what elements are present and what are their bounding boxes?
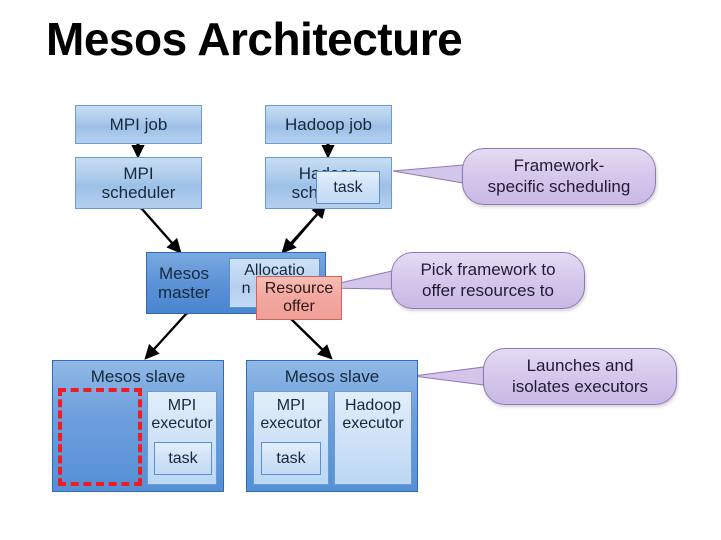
mesos-master-line2: master <box>158 283 210 302</box>
callout-framework-scheduling-line2: specific scheduling <box>488 177 631 198</box>
mesos-master-line1: Mesos <box>159 264 209 283</box>
resource-offer-line1: Resource <box>265 280 333 298</box>
mpi-scheduler-box[interactable]: MPI scheduler <box>75 157 202 209</box>
hadoop-job-box[interactable]: Hadoop job <box>265 105 392 144</box>
mesos-slave-2-title: Mesos slave <box>247 367 417 387</box>
callout-launches-isolates[interactable]: Launches and isolates executors <box>483 348 677 405</box>
mpi-job-box[interactable]: MPI job <box>75 105 202 144</box>
mesos-slave-2-mpi-task[interactable]: task <box>261 442 321 475</box>
mesos-slave-1-title: Mesos slave <box>53 367 223 387</box>
callout-pick-framework[interactable]: Pick framework to offer resources to <box>391 252 585 309</box>
resource-offer-line2: offer <box>283 298 315 316</box>
callout-pick-framework-line1: Pick framework to <box>420 260 555 281</box>
mesos-slave-1-mpi-executor-line2: executor <box>148 415 216 433</box>
mesos-slave-1-mpi-executor[interactable]: MPI executor task <box>147 391 217 485</box>
page-title: Mesos Architecture <box>46 12 462 66</box>
mesos-slave-2-mpi-executor-line1: MPI <box>254 397 328 415</box>
mesos-slave-2-hadoop-executor-line1: Hadoop <box>335 397 411 415</box>
resource-offer-box[interactable]: Resource offer <box>256 276 342 320</box>
mesos-slave-2-mpi-executor-line2: executor <box>254 415 328 433</box>
mesos-slave-2-mpi-task-label: task <box>276 450 305 468</box>
mesos-slave-2-hadoop-executor[interactable]: Hadoop executor <box>334 391 412 485</box>
hadoop-scheduler-task-label: task <box>333 179 362 197</box>
hadoop-job-label: Hadoop job <box>285 115 372 134</box>
mesos-slave-1-mpi-task[interactable]: task <box>154 442 212 475</box>
hadoop-scheduler-task-box[interactable]: task <box>316 171 380 204</box>
mpi-job-label: MPI job <box>110 115 168 134</box>
mesos-slave-1-mpi-task-label: task <box>168 450 197 468</box>
mesos-slave-2-hadoop-executor-line2: executor <box>335 415 411 433</box>
mesos-slave-1-empty-slot <box>58 388 142 486</box>
mesos-slave-1-mpi-executor-line1: MPI <box>148 397 216 415</box>
mpi-scheduler-line2: scheduler <box>102 183 176 202</box>
callout-framework-scheduling-line1: Framework- <box>514 156 605 177</box>
mesos-slave-2-mpi-executor[interactable]: MPI executor task <box>253 391 329 485</box>
mpi-scheduler-line1: MPI <box>123 164 153 183</box>
callout-launches-isolates-line1: Launches and <box>527 356 634 377</box>
slide-canvas: Mesos Architecture MPI job <box>0 0 721 540</box>
mesos-master-label: Mesos master <box>148 254 220 312</box>
callout-launches-isolates-line2: isolates executors <box>512 377 648 398</box>
callout-framework-scheduling[interactable]: Framework- specific scheduling <box>462 148 656 205</box>
callout-pick-framework-line2: offer resources to <box>422 281 554 302</box>
